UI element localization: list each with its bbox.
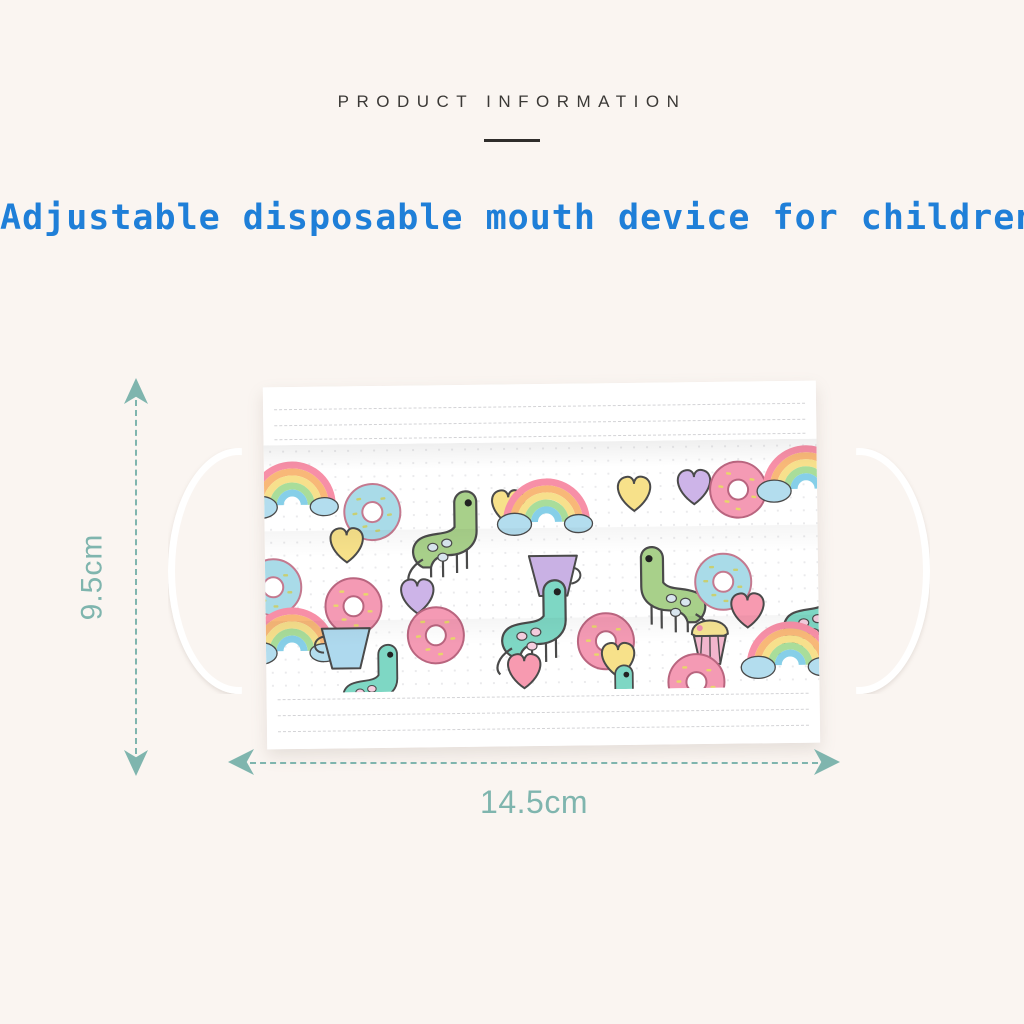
dimension-line-vertical <box>135 400 137 754</box>
mask-body <box>263 381 820 750</box>
dimension-width: 14.5cm <box>228 762 840 764</box>
dimension-height: 9.5cm <box>135 378 137 776</box>
mask-bottom-band <box>267 687 821 750</box>
product-illustration <box>0 0 1024 1024</box>
product-info-page: PRODUCT INFORMATION Adjustable disposabl… <box>0 0 1024 1024</box>
mask-top-band <box>263 381 817 446</box>
dimension-width-label: 14.5cm <box>480 784 588 821</box>
pattern-motifs-icon <box>264 439 820 694</box>
dimension-height-label: 9.5cm <box>75 534 109 621</box>
dimension-line-horizontal <box>250 762 818 764</box>
mask-pattern <box>264 439 820 694</box>
